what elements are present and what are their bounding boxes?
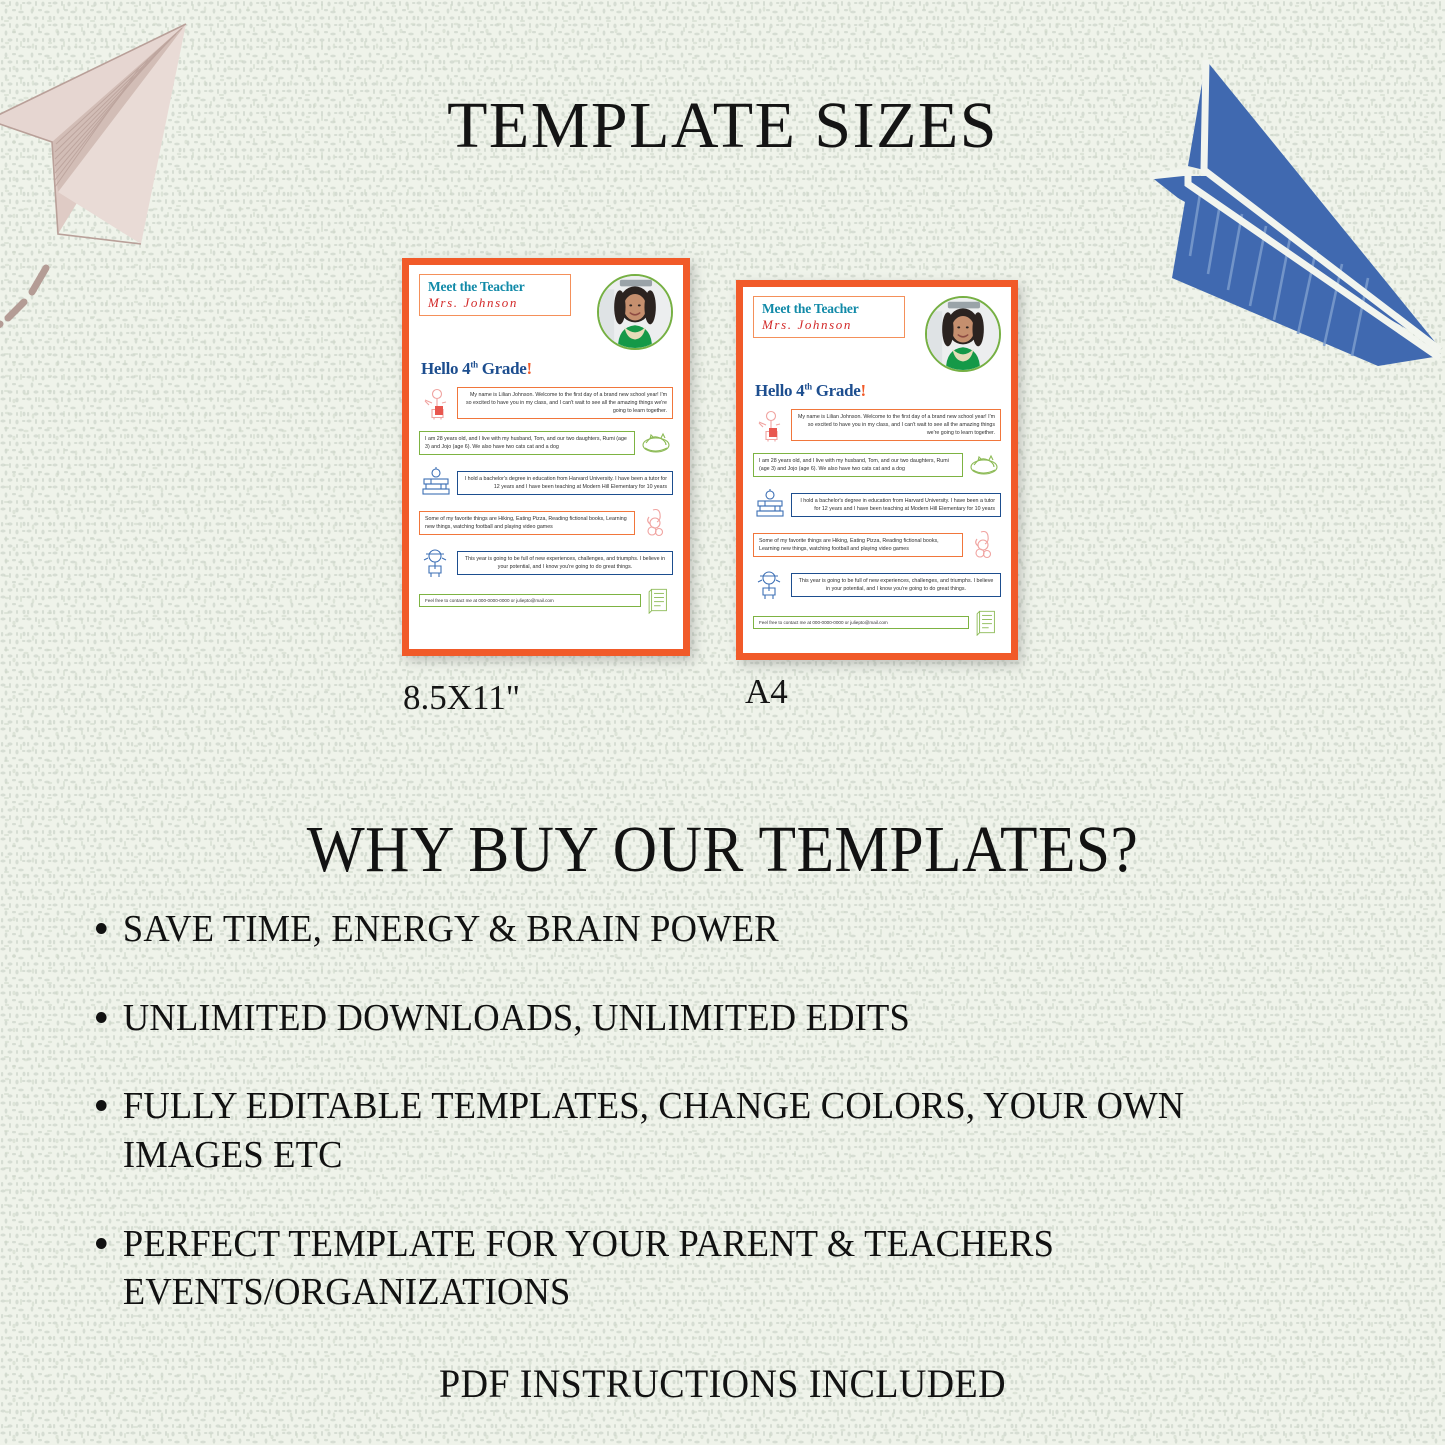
flyer-title-box: Meet the Teacher Mrs. Johnson (419, 274, 571, 316)
flyer-header: Meet the Teacher Mrs. Johnson (753, 296, 1001, 372)
benefits-list: SAVE TIME, ENERGY & BRAIN POWER UNLIMITE… (96, 905, 1386, 1357)
hello-exclaim: ! (527, 359, 532, 378)
teacher-name-label: Mrs. Johnson (428, 295, 564, 312)
benefit-text: SAVE TIME, ENERGY & BRAIN POWER (123, 905, 1335, 954)
page-title-template-sizes: TEMPLATE SIZES (0, 88, 1445, 164)
footer-pdf-instructions: PDF INSTRUCTIONS INCLUDED (36, 1360, 1409, 1407)
flyer-row-favorites: Some of my favorite things are Hiking, E… (419, 506, 673, 540)
teacher-pointer-icon (753, 408, 787, 442)
flyer-contact-line: Feel free to contact me at 000-0000-0000… (419, 594, 641, 607)
flyer-row-contact: Feel free to contact me at 000-0000-0000… (753, 608, 1001, 636)
bullet-dot-icon (96, 1012, 107, 1023)
flyer-row-intro: My name is Lilian Johnson. Welcome to th… (419, 386, 673, 420)
flyer-paragraph-intro: My name is Lilian Johnson. Welcome to th… (791, 409, 1001, 442)
teacher-portrait-avatar (925, 296, 1001, 372)
flyer-paragraph-education: I hold a bachelor's degree in education … (791, 493, 1001, 517)
size-caption-a4: A4 (745, 672, 788, 712)
flyer-title-box: Meet the Teacher Mrs. Johnson (753, 296, 905, 338)
student-icon (753, 568, 787, 602)
apple-books-icon (753, 488, 787, 522)
list-item: FULLY EDITABLE TEMPLATES, CHANGE COLORS,… (96, 1082, 1334, 1179)
bullet-dot-icon (96, 1100, 107, 1111)
hobby-icon (639, 506, 673, 540)
bullet-dot-icon (96, 923, 107, 934)
list-item: UNLIMITED DOWNLOADS, UNLIMITED EDITS (96, 994, 1334, 1043)
flyer-row-education: I hold a bachelor's degree in education … (419, 466, 673, 500)
list-item: SAVE TIME, ENERGY & BRAIN POWER (96, 905, 1334, 954)
flyer-inner: Meet the Teacher Mrs. Johnson (409, 265, 683, 649)
bullet-dot-icon (96, 1238, 107, 1249)
hello-prefix: Hello 4 (755, 381, 804, 400)
flyer-preview-a4[interactable]: Meet the Teacher Mrs. Johnson (736, 280, 1018, 660)
flyer-row-intro: My name is Lilian Johnson. Welcome to th… (753, 408, 1001, 442)
flyer-paragraph-closing: This year is going to be full of new exp… (457, 551, 673, 575)
family-cat-icon (639, 426, 673, 460)
teacher-name-label: Mrs. Johnson (762, 317, 898, 334)
hello-grade-heading: Hello 4th Grade! (755, 381, 1001, 401)
hello-suffix: Grade (478, 359, 527, 378)
flyer-header: Meet the Teacher Mrs. Johnson (419, 274, 673, 350)
size-caption-letter: 8.5X11" (403, 678, 520, 718)
hello-superscript: th (804, 381, 811, 391)
flyer-paragraph-intro: My name is Lilian Johnson. Welcome to th… (457, 387, 673, 420)
family-cat-icon (967, 448, 1001, 482)
flyer-row-family: I am 28 years old, and I live with my hu… (419, 426, 673, 460)
student-icon (419, 546, 453, 580)
benefit-text: FULLY EDITABLE TEMPLATES, CHANGE COLORS,… (123, 1082, 1335, 1179)
flyer-row-contact: Feel free to contact me at 000-0000-0000… (419, 586, 673, 614)
teacher-pointer-icon (419, 386, 453, 420)
flyer-contact-line: Feel free to contact me at 000-0000-0000… (753, 616, 969, 629)
section-title-why-buy: WHY BUY OUR TEMPLATES? (51, 812, 1395, 888)
hello-grade-heading: Hello 4th Grade! (421, 359, 673, 379)
hobby-icon (967, 528, 1001, 562)
flyer-paragraph-family: I am 28 years old, and I live with my hu… (753, 453, 963, 477)
hello-superscript: th (470, 359, 477, 369)
flyer-paragraph-family: I am 28 years old, and I live with my hu… (419, 431, 635, 455)
flyer-paragraph-closing: This year is going to be full of new exp… (791, 573, 1001, 597)
notebook-icon (973, 608, 1001, 636)
flyer-row-closing: This year is going to be full of new exp… (753, 568, 1001, 602)
meet-the-teacher-label: Meet the Teacher (428, 279, 564, 295)
flyer-paragraph-education: I hold a bachelor's degree in education … (457, 471, 673, 495)
flyer-row-favorites: Some of my favorite things are Hiking, E… (753, 528, 1001, 562)
teacher-portrait-avatar (597, 274, 673, 350)
flyer-row-family: I am 28 years old, and I live with my hu… (753, 448, 1001, 482)
flyer-row-education: I hold a bachelor's degree in education … (753, 488, 1001, 522)
hello-suffix: Grade (812, 381, 861, 400)
benefit-text: UNLIMITED DOWNLOADS, UNLIMITED EDITS (123, 994, 1335, 1043)
flyer-paragraph-favorites: Some of my favorite things are Hiking, E… (419, 511, 635, 535)
flyer-inner: Meet the Teacher Mrs. Johnson (743, 287, 1011, 653)
notebook-icon (645, 586, 673, 614)
list-item: PERFECT TEMPLATE FOR YOUR PARENT & TEACH… (96, 1220, 1334, 1317)
flyer-content-rows: My name is Lilian Johnson. Welcome to th… (753, 408, 1001, 645)
flyer-preview-letter[interactable]: Meet the Teacher Mrs. Johnson (402, 258, 690, 656)
flyer-paragraph-favorites: Some of my favorite things are Hiking, E… (753, 533, 963, 557)
apple-books-icon (419, 466, 453, 500)
benefit-text: PERFECT TEMPLATE FOR YOUR PARENT & TEACH… (123, 1220, 1335, 1317)
meet-the-teacher-label: Meet the Teacher (762, 301, 898, 317)
hello-exclaim: ! (861, 381, 866, 400)
flyer-content-rows: My name is Lilian Johnson. Welcome to th… (419, 386, 673, 641)
flyer-row-closing: This year is going to be full of new exp… (419, 546, 673, 580)
hello-prefix: Hello 4 (421, 359, 470, 378)
